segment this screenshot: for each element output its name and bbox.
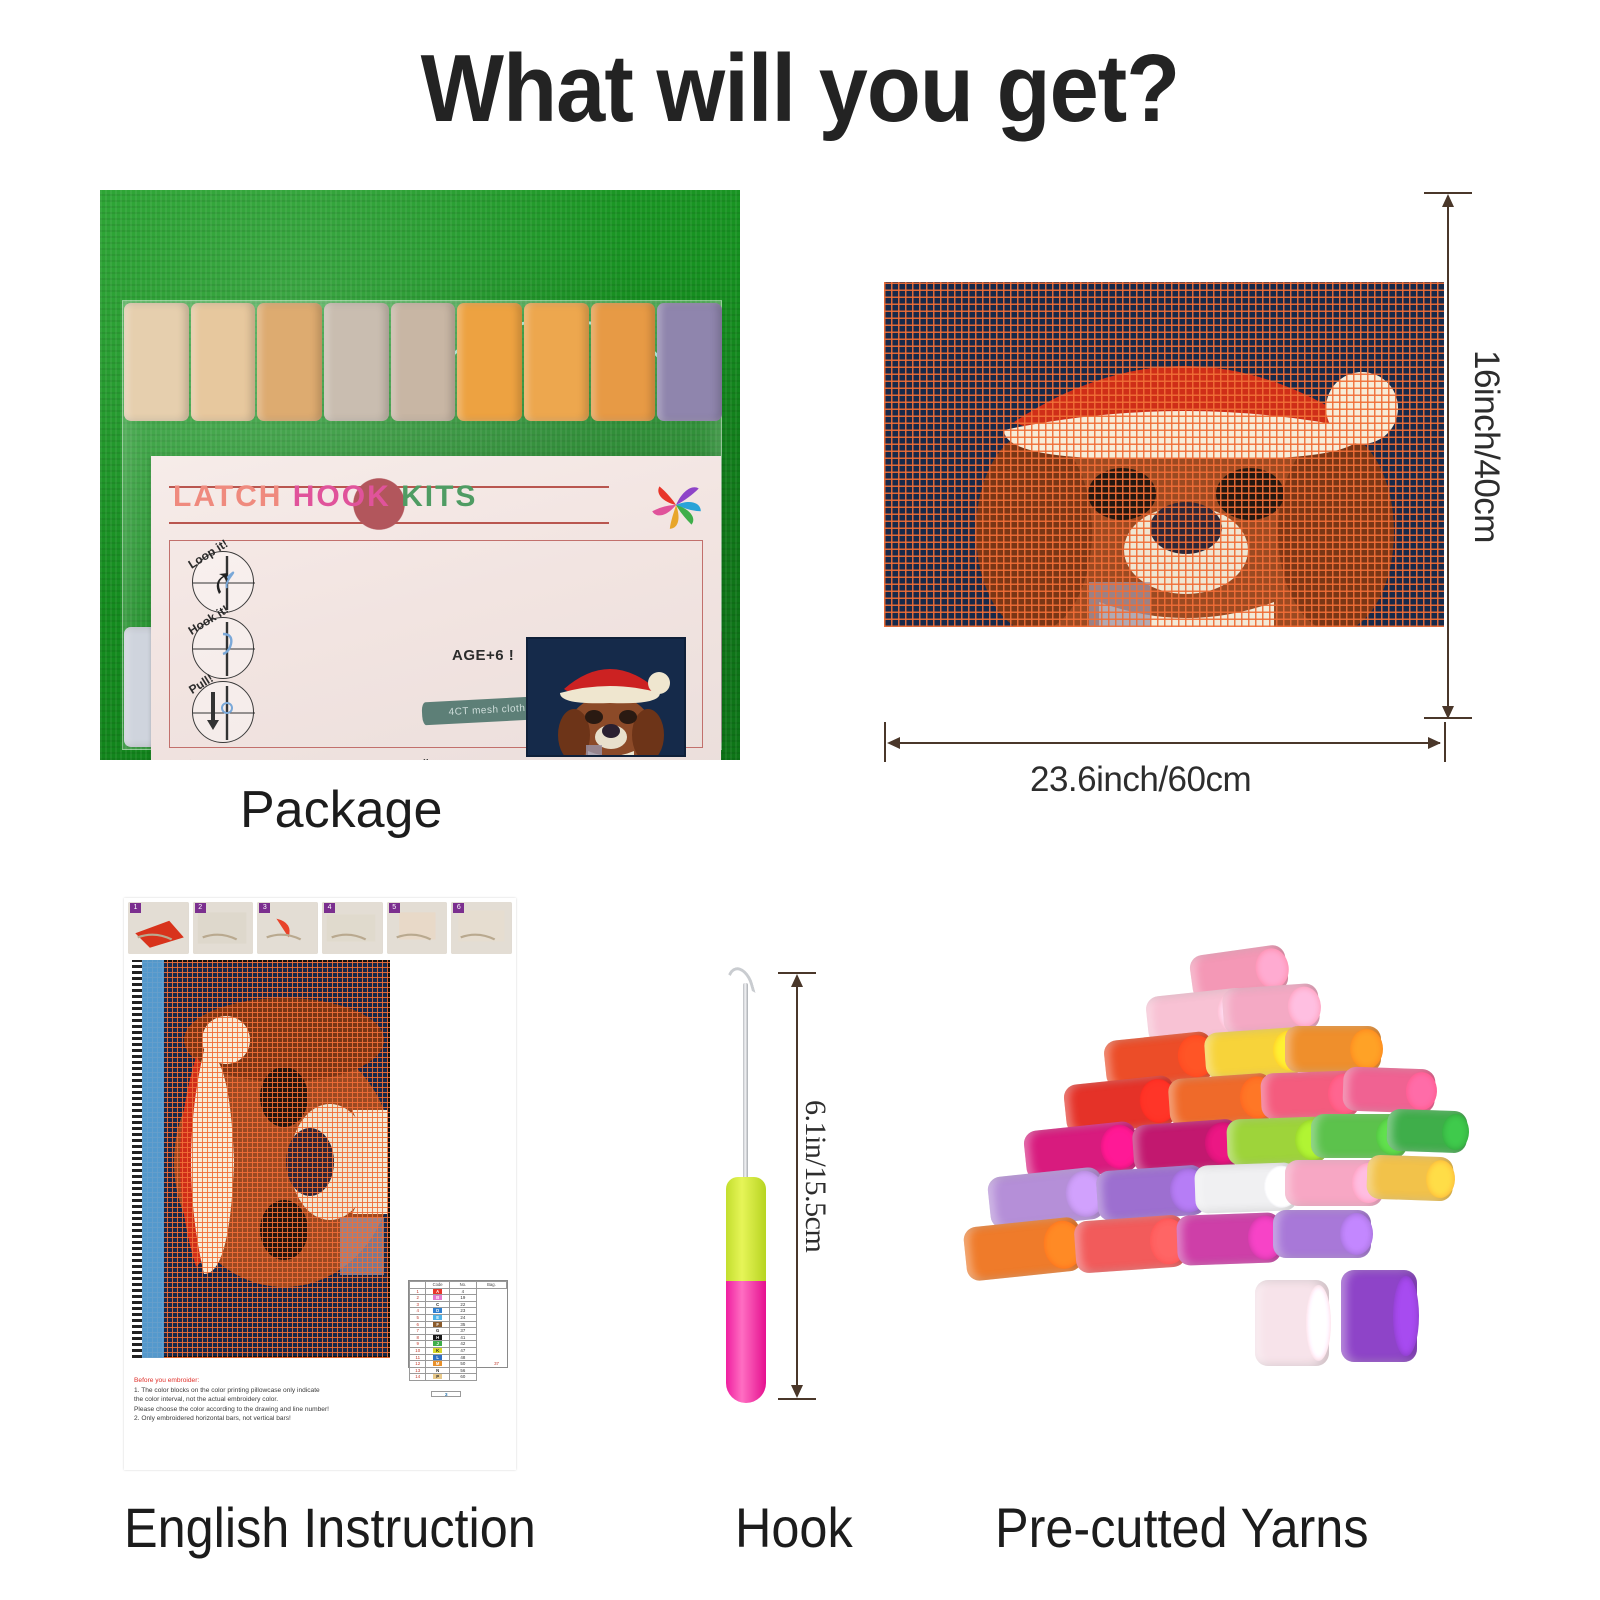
yarn-bundle	[124, 303, 189, 421]
legend-code: L	[426, 1354, 449, 1361]
legend-number: 35	[449, 1321, 476, 1328]
hook-tip-icon	[722, 964, 755, 1000]
legend-row: 7G372	[410, 1328, 507, 1335]
yarn-bundle	[1341, 1270, 1417, 1362]
legend-index: 6	[410, 1321, 426, 1328]
package-photo: LATCH HOOK KITS	[100, 190, 740, 760]
hook-dim-arrow-up	[791, 974, 803, 987]
legend-row: 6F353	[410, 1321, 507, 1328]
before-you-embroider-note: Before you embroider: 1. The color block…	[134, 1376, 434, 1424]
legend-bag: 3	[431, 1391, 461, 1397]
yarn-bundle	[457, 303, 522, 421]
brand-word-kits: KITS	[401, 480, 477, 513]
yarn-bundle	[1176, 1212, 1282, 1266]
yarn-bundle	[1386, 1109, 1467, 1154]
legend-code: H	[426, 1334, 449, 1341]
yarn-bundle	[1255, 1280, 1329, 1366]
latch-hook-tool	[690, 955, 810, 1415]
dim-line-vertical	[1447, 196, 1449, 718]
legend-header-cell: No.	[449, 1282, 476, 1289]
yarn-bundle	[1273, 1210, 1371, 1258]
caption-hook: Hook	[735, 1495, 853, 1560]
legend-number: 4	[449, 1288, 476, 1295]
step-thumbnail: 3	[257, 902, 318, 954]
legend-code: J	[426, 1341, 449, 1348]
dim-arrow-up	[1442, 194, 1454, 207]
legend-total: 37	[494, 1361, 499, 1366]
hook-handle-upper	[726, 1177, 766, 1285]
handmade-series-text: Handmade series	[223, 759, 439, 760]
hook-length-label: 6.1in/15.5cm	[798, 1100, 832, 1252]
legend-index: 13	[410, 1367, 426, 1374]
yarn-bundle	[191, 303, 256, 421]
note-line-3: Please choose the color according to the…	[134, 1405, 434, 1415]
color-legend-table: CodeNo.Bag.1A422B1913C2264D2355E2426F353…	[408, 1280, 508, 1368]
instruction-box: Loop it! Hook it!	[169, 540, 703, 748]
caption-english-instruction: English Instruction	[124, 1495, 536, 1560]
english-instruction-sheet: 123456 CodeNo.Bag.1A422B1913C2264D2355E2…	[124, 898, 516, 1470]
legend-header-cell	[410, 1282, 426, 1289]
legend-index: 12	[410, 1361, 426, 1368]
note-line-4: 2. Only embroidered horizontal bars, not…	[134, 1414, 434, 1424]
mesh-grid-overlay	[884, 282, 1444, 627]
legend-row: 1A42	[410, 1288, 507, 1295]
legend-row: 4D235	[410, 1308, 507, 1315]
yarn-bundle	[257, 303, 322, 421]
legend-row: 13N562	[410, 1367, 507, 1374]
dim-cap-right	[1444, 722, 1446, 762]
legend-row: 5E242	[410, 1314, 507, 1321]
legend-code: D	[426, 1308, 449, 1315]
legend-index: 8	[410, 1334, 426, 1341]
dim-arrow-right	[1428, 737, 1441, 749]
legend-header-cell: Code	[426, 1282, 449, 1289]
legend-number: 22	[449, 1301, 476, 1308]
note-header: Before you embroider:	[134, 1376, 434, 1386]
legend-row: 2B191	[410, 1295, 507, 1302]
yarn-bundle	[391, 303, 456, 421]
yarn-bundle	[324, 303, 389, 421]
legend-index: 3	[410, 1301, 426, 1308]
z-logo: Z	[166, 748, 203, 760]
pre-cutted-yarns-photo	[955, 940, 1455, 1410]
dim-line-horizontal	[890, 742, 1440, 744]
step-thumbnail: 2	[193, 902, 254, 954]
age-text: AGE+6 !	[452, 647, 514, 664]
yarn-bundle	[524, 303, 589, 421]
legend-index: 11	[410, 1354, 426, 1361]
step-thumbnail-number: 6	[453, 903, 464, 913]
canvas-height-label: 16inch/40cm	[1466, 350, 1506, 543]
legend-code: M	[426, 1361, 449, 1368]
legend-row: 3C226	[410, 1301, 507, 1308]
step-thumbnail-number: 3	[259, 903, 270, 913]
legend-number: 47	[449, 1347, 476, 1354]
hook-shaft	[743, 983, 748, 1181]
note-line-1: 1. The color blocks on the color printin…	[134, 1386, 434, 1396]
hook-handle-lower	[726, 1281, 766, 1403]
legend-code: B	[426, 1295, 449, 1302]
legend-index: 9	[410, 1341, 426, 1348]
hook-dim-cap-bottom	[778, 1398, 816, 1400]
yarn-bundle	[962, 1216, 1083, 1282]
legend-row: 10K473	[410, 1347, 507, 1354]
legend-number: 23	[449, 1308, 476, 1315]
label-footer: Z Handmade series " CODE:DT2461 SIZE:60X…	[151, 755, 721, 760]
legend-index: 2	[410, 1295, 426, 1302]
chart-ruler-left	[132, 960, 142, 1358]
quote-mark: "	[423, 757, 429, 760]
yarn-bundle	[1285, 1026, 1381, 1072]
legend-number: 37	[449, 1328, 476, 1335]
legend-row: 8H413	[410, 1334, 507, 1341]
legend-index: 7	[410, 1328, 426, 1335]
legend-code: A	[426, 1288, 449, 1295]
yarn-bundle	[591, 303, 656, 421]
dim-cap-left	[884, 722, 886, 762]
step-thumbnail-number: 4	[324, 903, 335, 913]
legend-number: 41	[449, 1334, 476, 1341]
legend-code: E	[426, 1314, 449, 1321]
page-title: What will you get?	[64, 34, 1536, 144]
brand-word-hook: HOOK	[293, 480, 391, 513]
step-thumbnail: 6	[451, 902, 512, 954]
legend-number: 19	[449, 1295, 476, 1302]
legend-number: 48	[449, 1354, 476, 1361]
caption-package: Package	[240, 780, 442, 840]
legend-number: 42	[449, 1341, 476, 1348]
legend-row: 11L483	[410, 1354, 507, 1361]
yarn-bundle	[1342, 1066, 1435, 1113]
yarn-row-top	[123, 303, 723, 421]
dim-arrow-left	[887, 737, 900, 749]
pattern-chart-grid	[132, 960, 390, 1358]
rug-preview-image	[526, 637, 686, 757]
legend-index: 5	[410, 1314, 426, 1321]
legend-number: 24	[449, 1314, 476, 1321]
brand-title: LATCH HOOK KITS	[173, 480, 623, 514]
yarn-bundle	[1194, 1162, 1298, 1214]
step-thumbnail-number: 5	[389, 903, 400, 913]
legend-number: 50	[449, 1361, 476, 1368]
legend-number: 56	[449, 1367, 476, 1374]
legend-index: 4	[410, 1308, 426, 1315]
legend-index: 10	[410, 1347, 426, 1354]
canvas-width-label: 23.6inch/60cm	[1030, 760, 1251, 800]
brand-word-latch: LATCH	[173, 480, 282, 513]
product-label: LATCH HOOK KITS	[151, 456, 721, 760]
legend-row: 9J421	[410, 1341, 507, 1348]
legend-number: 60	[449, 1374, 476, 1381]
yarn-bundle	[1073, 1214, 1186, 1274]
step-thumbnail: 4	[322, 902, 383, 954]
yarn-bundle	[657, 303, 722, 421]
step-thumbnail: 1	[128, 902, 189, 954]
caption-pre-cutted-yarns: Pre-cutted Yarns	[995, 1495, 1369, 1560]
step-thumbnail-strip: 123456	[128, 902, 512, 954]
legend-code: G	[426, 1328, 449, 1335]
step-thumbnail: 5	[387, 902, 448, 954]
legend-index: 1	[410, 1288, 426, 1295]
legend-header-cell: Bag.	[476, 1282, 506, 1289]
mesh-canvas	[884, 282, 1444, 627]
legend-code: K	[426, 1347, 449, 1354]
legend-code: C	[426, 1301, 449, 1308]
legend-row: 12M503	[410, 1361, 507, 1368]
legend-code: F	[426, 1321, 449, 1328]
plastic-bag: LATCH HOOK KITS	[122, 300, 722, 750]
yarn-bundle	[1095, 1164, 1206, 1221]
note-line-2: the color interval, not the actual embro…	[134, 1395, 434, 1405]
pinwheel-logo	[645, 474, 707, 536]
step-thumbnail-number: 1	[130, 903, 141, 913]
dim-arrow-down	[1442, 706, 1454, 719]
hook-dim-arrow-down	[791, 1385, 803, 1398]
chart-blue-band	[142, 960, 164, 1358]
yarn-bundle	[1366, 1155, 1453, 1202]
legend-code: N	[426, 1367, 449, 1374]
step-thumbnail-number: 2	[195, 903, 206, 913]
